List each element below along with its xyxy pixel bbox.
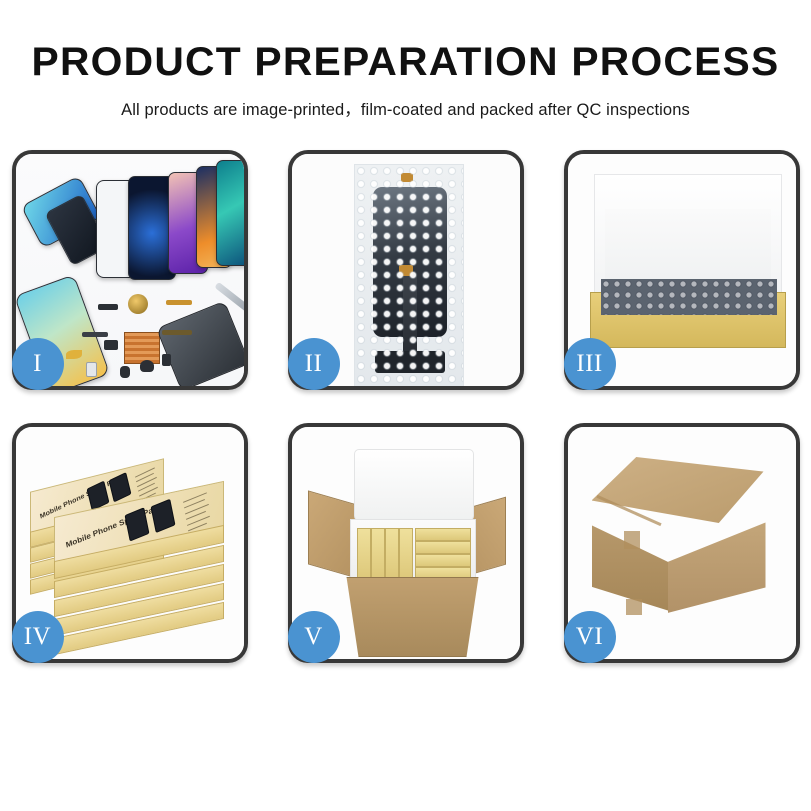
chip-part <box>104 340 118 350</box>
box-spec-line <box>183 492 207 503</box>
gold-box-in-carton <box>415 554 471 567</box>
chip-part <box>86 362 97 377</box>
chip-part <box>140 360 154 372</box>
foam-lid <box>354 449 474 521</box>
gold-box-in-carton <box>415 541 471 554</box>
carton-tape-patch <box>626 599 642 615</box>
carton-top-face <box>592 457 764 523</box>
bubble-texture <box>355 165 463 386</box>
bubble-wrapped-contents <box>601 279 777 315</box>
bubble-wrap-bag <box>354 164 464 386</box>
step-badge-4: IV <box>12 611 64 663</box>
process-step-5: V <box>288 423 524 663</box>
step-badge-5: V <box>288 611 340 663</box>
box-screen-image <box>124 507 149 541</box>
product-preparation-infographic: PRODUCT PREPARATION PROCESS All products… <box>0 0 811 811</box>
carton-body <box>338 577 488 657</box>
step-badge-2: II <box>288 338 340 390</box>
gold-box-in-carton <box>385 528 399 580</box>
gold-box-in-carton <box>357 528 371 580</box>
process-step-2: II <box>288 150 524 390</box>
foam-liner <box>350 519 476 587</box>
step-badge-1: I <box>12 338 64 390</box>
phone-back-housing <box>155 301 243 386</box>
carton-tape-patch <box>624 531 640 549</box>
chip-part <box>66 350 82 359</box>
process-step-grid: I II <box>11 150 801 663</box>
process-step-3: III <box>564 150 800 390</box>
chip-part <box>120 366 130 378</box>
gold-box-in-carton <box>415 528 471 541</box>
connector-board-part <box>124 332 160 364</box>
chip-part <box>162 354 171 366</box>
chip-part <box>98 304 118 310</box>
speaker-part <box>128 294 148 314</box>
flex-cable-part <box>162 330 192 335</box>
flex-cable-part <box>82 332 108 337</box>
process-step-6: VI <box>564 423 800 663</box>
header: PRODUCT PREPARATION PROCESS All products… <box>0 0 811 120</box>
carton-left-face <box>592 501 670 611</box>
gold-box-in-carton <box>399 528 413 580</box>
page-title: PRODUCT PREPARATION PROCESS <box>0 42 811 82</box>
step-badge-6: VI <box>564 611 616 663</box>
step-badge-3: III <box>564 338 616 390</box>
gold-box-in-carton <box>371 528 385 580</box>
process-step-1: I <box>12 150 248 390</box>
page-subtitle: All products are image-printed，film-coat… <box>0 96 811 120</box>
phone-screen-teal <box>216 160 244 266</box>
gold-box-tray <box>590 292 786 348</box>
box-screen-image <box>108 472 131 502</box>
process-step-4: Mobile Phone Spare Parts Mobile Phone <box>12 423 248 663</box>
flex-cable-part <box>166 300 192 305</box>
